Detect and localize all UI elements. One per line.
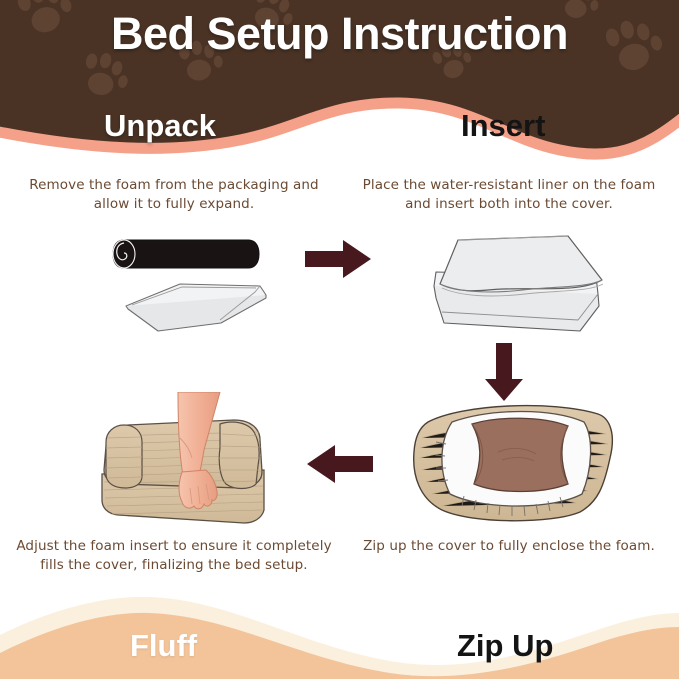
bed-cushion-center xyxy=(472,418,568,491)
step-label-zipup: Zip Up xyxy=(457,628,553,664)
arrow-unpack-to-insert xyxy=(303,238,373,284)
caption-unpack: Remove the foam from the packaging and a… xyxy=(14,176,334,214)
liner-sheet-icon xyxy=(126,284,266,331)
step-label-fluff: Fluff xyxy=(130,628,197,664)
step-label-unpack: Unpack xyxy=(104,108,216,144)
step-label-insert: Insert xyxy=(461,108,545,144)
caption-zipup: Zip up the cover to fully enclose the fo… xyxy=(349,537,669,556)
caption-insert: Place the water-resistant liner on the f… xyxy=(349,176,669,214)
caption-fluff: Adjust the foam insert to ensure it comp… xyxy=(14,537,334,575)
water-resistant-liner-icon xyxy=(440,236,603,296)
illustration-foam-slab-with-liner xyxy=(428,228,608,347)
bed-bolster-left xyxy=(106,425,142,488)
illustration-rolled-foam-and-liner xyxy=(108,232,298,346)
page-title: Bed Setup Instruction xyxy=(0,8,679,60)
illustration-zipped-dog-bed xyxy=(402,398,627,530)
arrow-insert-to-zipup xyxy=(483,341,525,407)
footer-banner xyxy=(0,579,679,679)
arrow-zipup-to-fluff xyxy=(305,443,375,489)
infographic-page: Bed Setup Instruction Unpack Insert Remo… xyxy=(0,0,679,679)
rolled-foam-icon xyxy=(113,240,259,268)
bed-bolster-right xyxy=(219,422,259,488)
